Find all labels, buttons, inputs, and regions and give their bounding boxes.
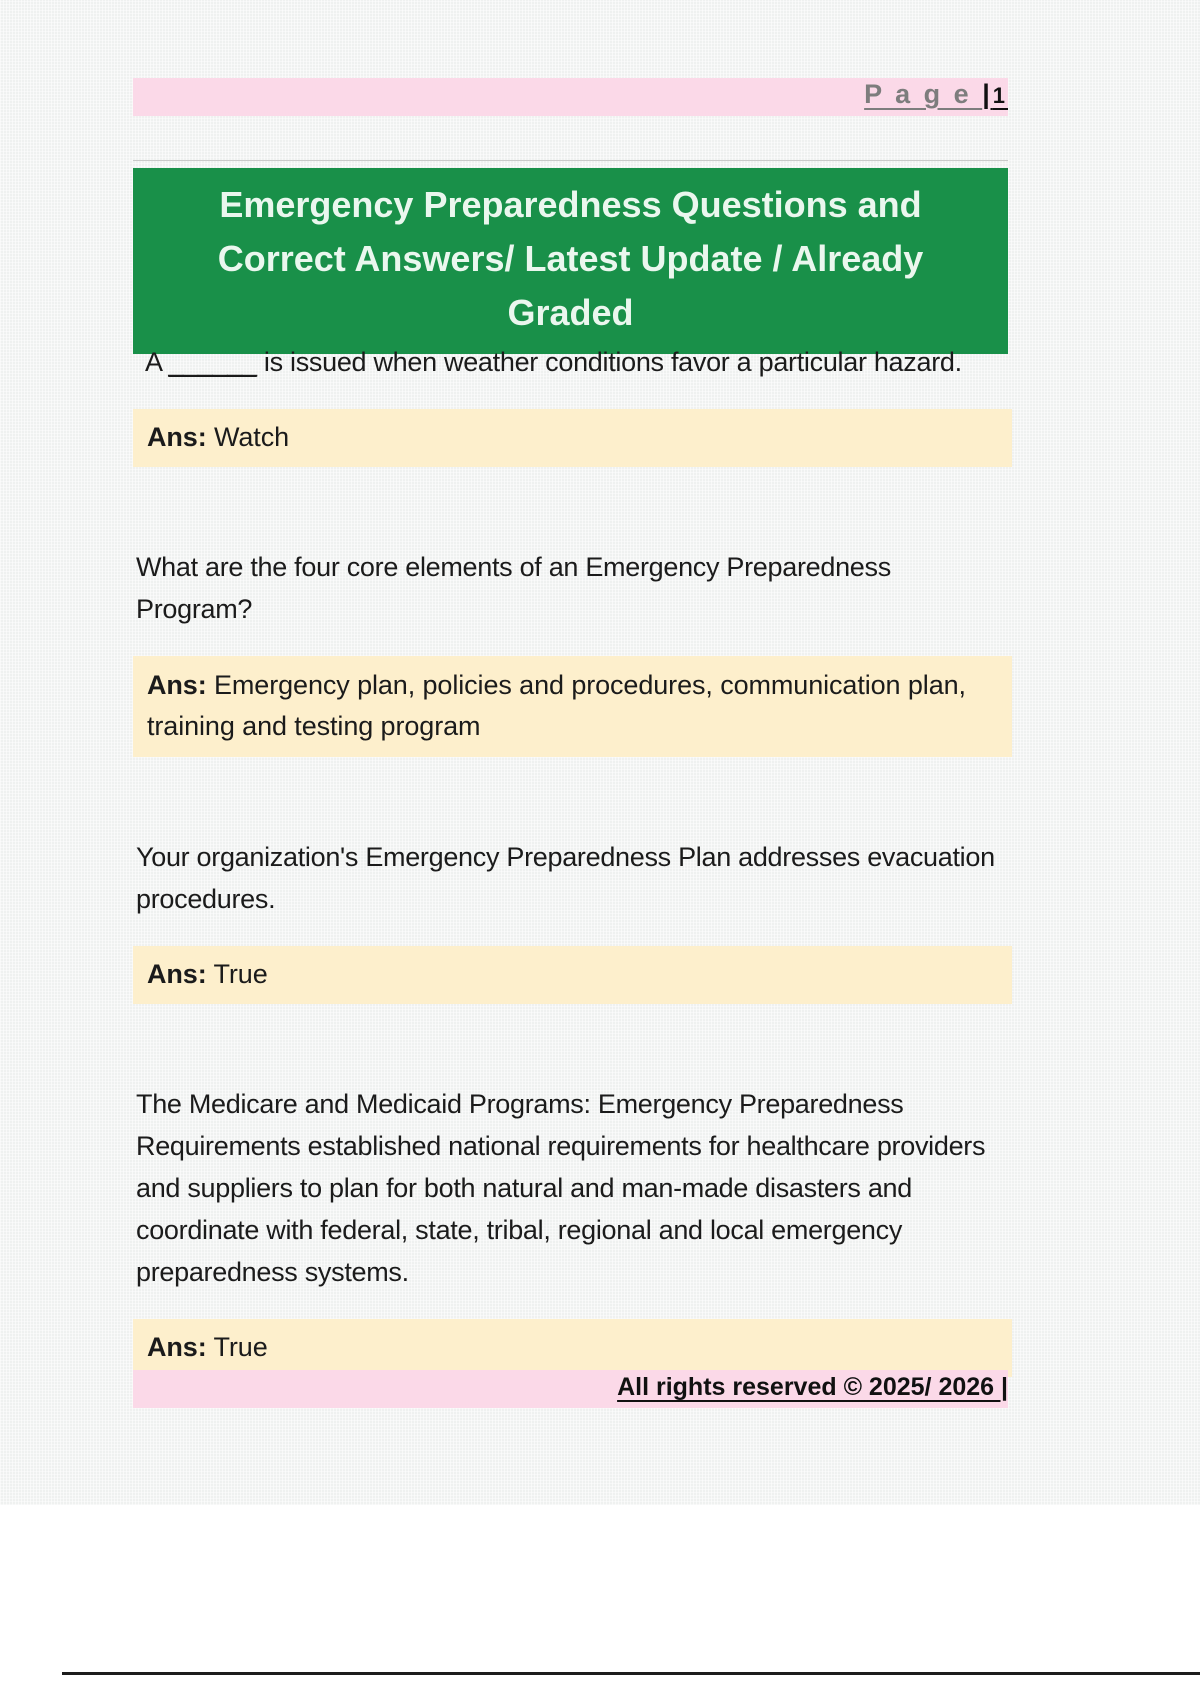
question-text: The Medicare and Medicaid Programs: Emer… [133,1080,1008,1293]
answer-label: Ans: [147,959,207,989]
page-bottom-margin [0,1505,1200,1655]
header-divider-rule [133,160,1008,161]
answer-block: Ans: Watch [133,409,1012,467]
answer-text: True [207,1332,268,1362]
page-edge-divider [62,1672,1200,1675]
spacer [133,630,1008,656]
document-title-banner: Emergency Preparedness Questions and Cor… [133,168,1008,354]
spacer [133,757,1008,833]
spacer [133,1004,1008,1080]
question-blank: ______ [168,347,256,377]
answer-text: Watch [207,422,289,452]
answer-label: Ans: [147,422,207,452]
question-text: A ______ is issued when weather conditio… [133,338,1008,383]
answer-label: Ans: [147,1332,207,1362]
answer-text: Emergency plan, policies and procedures,… [147,670,966,741]
spacer [133,383,1008,409]
answer-block: Ans: True [133,946,1012,1004]
answer-text: True [207,959,268,989]
page-label: P a g e [864,79,982,109]
question-text: Your organization's Emergency Preparedne… [133,833,1008,920]
question-suffix: is issued when weather conditions favor … [257,347,962,377]
page-number-header: P a g e |1 [864,74,1008,116]
answer-label: Ans: [147,670,207,700]
question-prefix: A [145,347,168,377]
spacer [133,467,1008,543]
answer-block: Ans: Emergency plan, policies and proced… [133,656,1012,757]
document-title: Emergency Preparedness Questions and Cor… [161,178,980,340]
question-text: What are the four core elements of an Em… [133,543,1008,630]
page-header-band: P a g e |1 [133,78,1008,116]
copyright-notice: All rights reserved © 2025/ 2026 | [617,1367,1008,1407]
qa-content: A ______ is issued when weather conditio… [133,338,1008,1377]
page-footer-band: All rights reserved © 2025/ 2026 | [133,1370,1008,1408]
page-number-value: 1 [993,83,1008,108]
spacer [133,920,1008,946]
page-separator: | [982,79,993,109]
spacer [133,1293,1008,1319]
